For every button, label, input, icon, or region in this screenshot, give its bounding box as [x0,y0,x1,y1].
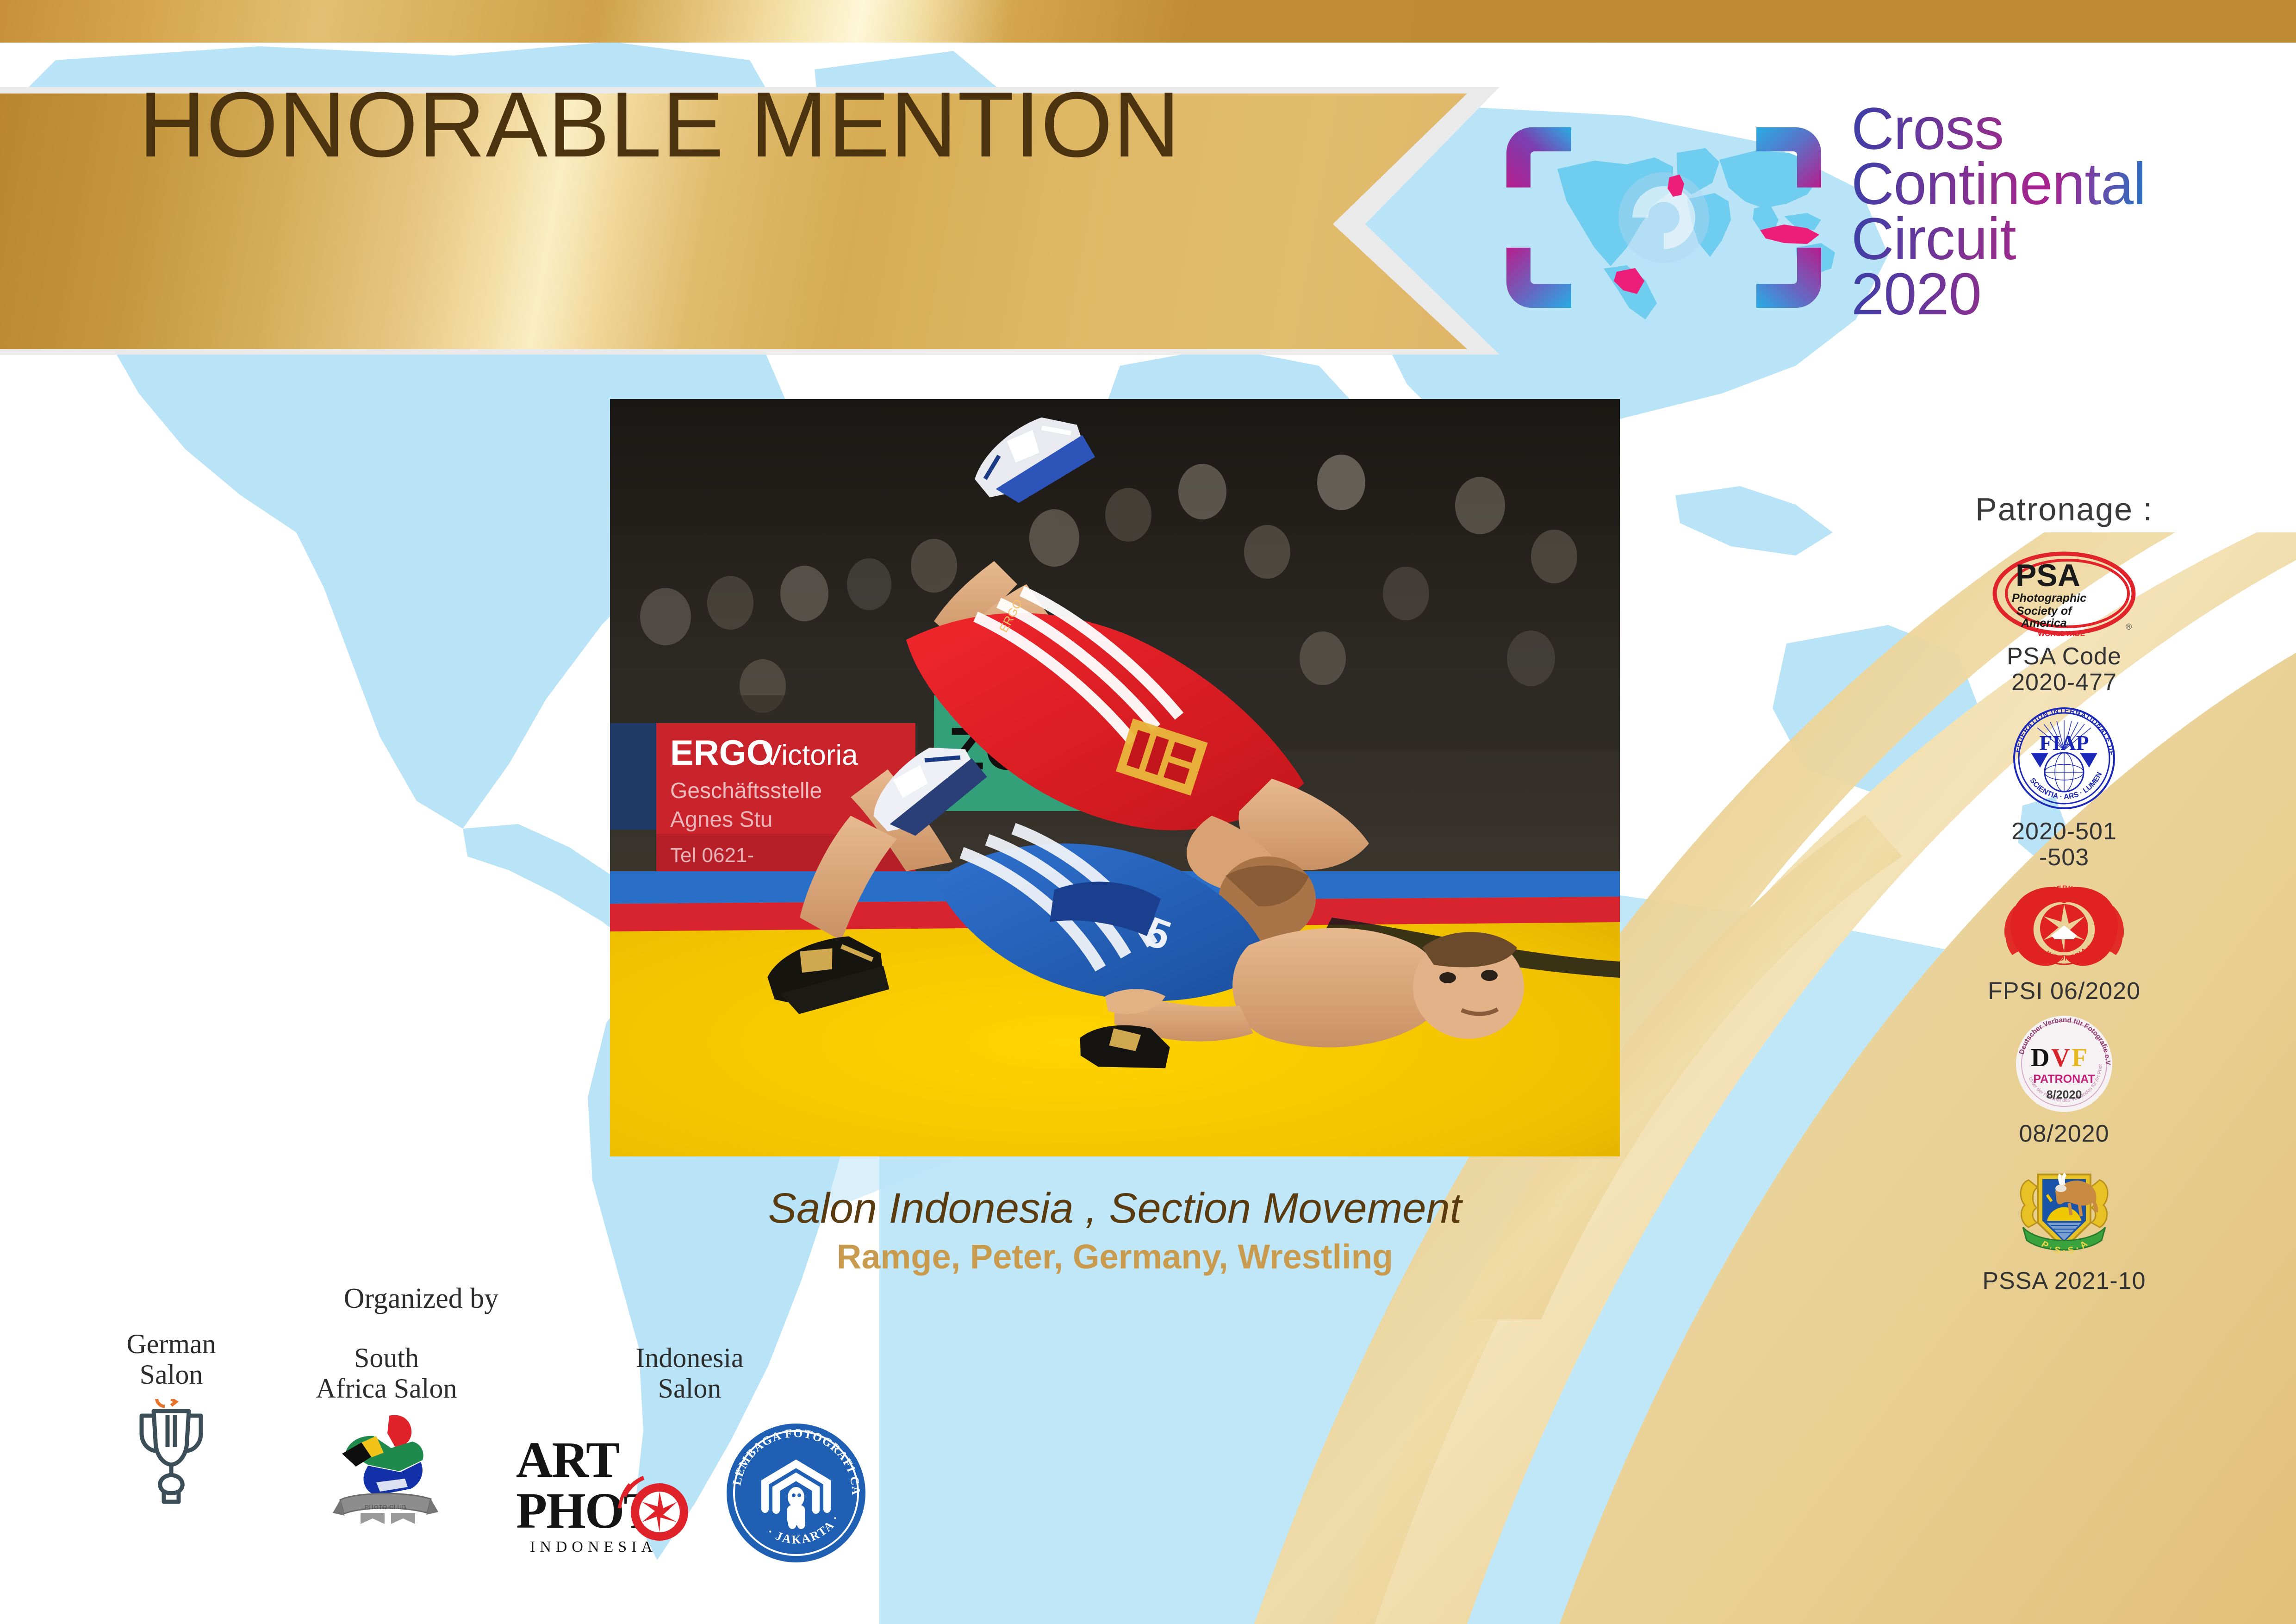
caption-author: Ramge, Peter, Germany, Wrestling [610,1237,1620,1276]
organizer-german-salon: German Salon [79,1329,264,1505]
svg-text:ERGO: ERGO [670,733,774,773]
organizer-south-africa-salon: South Africa Salon PHOTO CLUB [287,1343,486,1529]
fpsi-logo: FEDERASI PERKUMPULAN SENI FOTO · INDONES… [1925,877,2203,974]
svg-text:INDONESIA: INDONESIA [530,1538,657,1555]
psa-logo: PSA Photographic Society of America WORL… [1925,547,2203,640]
patronage-item-psa: PSA Photographic Society of America WORL… [1925,547,2203,695]
svg-text:Victoria: Victoria [763,739,858,771]
dvf-patronat-stamp: Deutscher Verband für Fotografie e.V. Un… [1925,1011,2203,1117]
patronage-column: Patronage : PSA Photographic Society of … [1925,491,2203,1300]
svg-text:PATRONAT: PATRONAT [2033,1073,2095,1086]
svg-text:Society of: Society of [2016,605,2073,618]
svg-text:PSA: PSA [2016,558,2080,593]
trophy-icon [79,1399,264,1505]
lembaga-fotografi-candra-naya-logo: LEMBAGA FOTOGRAFI CANDRA NAYA · JAKARTA … [708,1412,884,1565]
svg-text:WORLDWIDE: WORLDWIDE [2038,630,2085,638]
award-title: HONORABLE MENTION [139,79,1181,171]
pssa-code-label: PSSA 2021-10 [1925,1268,2203,1294]
svg-text:America: America [2021,617,2067,630]
patronage-item-dvf: Deutscher Verband für Fotografie e.V. Un… [1925,1011,2203,1147]
organized-by-heading: Organized by [278,1282,565,1315]
logo-wordmark: Cross Continental Circuit 2020 [1851,101,2221,322]
fpsi-code-label: FPSI 06/2020 [1925,978,2203,1004]
logo-line-4: 2020 [1851,267,2221,322]
patronage-item-fpsi: FEDERASI PERKUMPULAN SENI FOTO · INDONES… [1925,877,2203,1004]
svg-text:Photographic: Photographic [2012,592,2086,605]
pssa-crest: P·S·S·A [1925,1153,2203,1264]
south-africa-flag-crest: PHOTO CLUB [287,1413,486,1529]
fiap-code-label: 2020-501 -503 [1925,818,2203,870]
logo-line-3: Circuit [1851,212,2221,267]
cross-continental-circuit-logo: Cross Continental Circuit 2020 [1488,109,2219,326]
south-africa-salon-label: South Africa Salon [287,1343,486,1404]
art-photo-indonesia-logo: ART PHOT INDONESIA [504,1417,717,1560]
svg-text:®: ® [2126,622,2132,631]
lfcn-seal: LEMBAGA FOTOGRAFI CANDRA NAYA · JAKARTA … [708,1421,884,1565]
patronage-item-pssa: P·S·S·A PSSA 2021-10 [1925,1153,2203,1294]
organizer-indonesia-salon: Indonesia Salon [592,1343,787,1404]
svg-text:Geschäftsstelle: Geschäftsstelle [670,779,822,803]
svg-text:Tel 0621-: Tel 0621- [670,844,754,867]
award-photograph: ZO ERGO Victoria Geschäftsstelle Agnes S… [610,399,1620,1156]
caption-salon-section: Salon Indonesia , Section Movement [610,1184,1620,1233]
top-gold-strip [0,0,2296,43]
svg-text:PHOTO CLUB: PHOTO CLUB [365,1504,406,1511]
world-map-bracket-icon [1488,109,1840,326]
svg-text:FIAP: FIAP [2039,731,2089,755]
logo-line-2: Continental [1851,156,2221,212]
svg-text:V: V [2051,1043,2070,1072]
svg-text:F: F [2072,1043,2087,1072]
art-photo-wordmark: ART PHOT INDONESIA [504,1426,717,1560]
svg-text:D: D [2031,1043,2049,1072]
svg-text:ART: ART [516,1431,619,1488]
svg-text:8/2020: 8/2020 [2047,1088,2082,1101]
logo-line-1: Cross [1851,101,2221,156]
psa-code-label: PSA Code 2020-477 [1925,643,2203,695]
svg-text:Agnes Stu: Agnes Stu [670,807,772,832]
patronage-item-fiap: FEDERATION INTERNATIONALE DE L'ART PHOTO… [1925,702,2203,870]
dvf-code-label: 08/2020 [1925,1121,2203,1147]
indonesia-salon-label: Indonesia Salon [592,1343,787,1404]
fiap-seal: FEDERATION INTERNATIONALE DE L'ART PHOTO… [1925,702,2203,815]
german-salon-label: German Salon [79,1329,264,1390]
patronage-title: Patronage : [1925,491,2203,528]
